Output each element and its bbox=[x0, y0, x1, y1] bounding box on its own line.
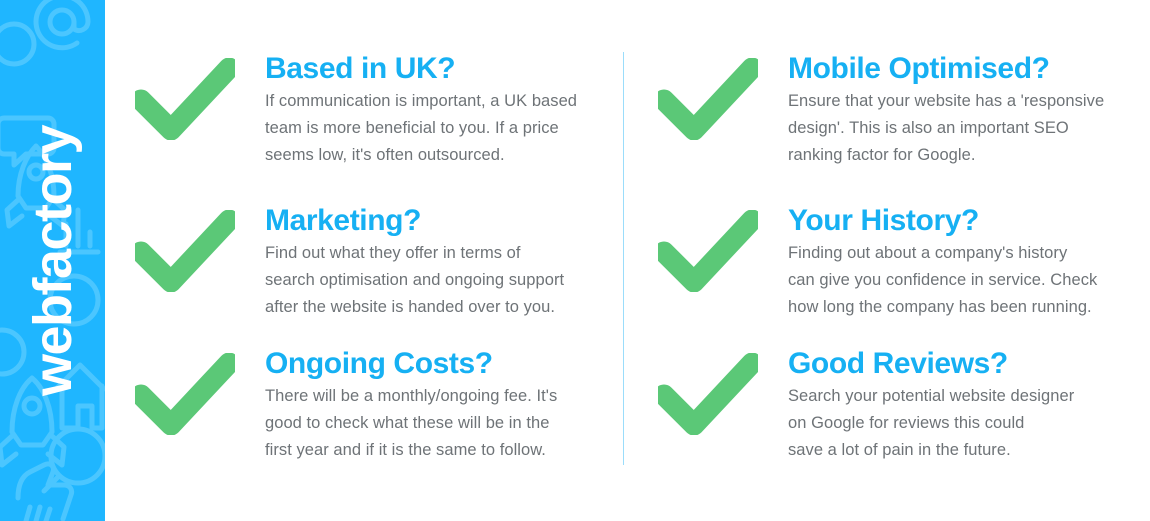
checkmark-wrapper bbox=[658, 347, 788, 435]
body-line: save a lot of pain in the future. bbox=[788, 437, 1133, 464]
body-line: design'. This is also an important SEO bbox=[788, 115, 1133, 142]
checkmark-wrapper bbox=[658, 204, 788, 292]
checklist-item-text: Marketing? Find out what they offer in t… bbox=[265, 204, 610, 321]
checkmark-wrapper bbox=[658, 52, 788, 140]
body-line: Ensure that your website has a 'responsi… bbox=[788, 88, 1133, 115]
checklist-item-body: Find out what they offer in terms of sea… bbox=[265, 240, 610, 321]
body-line: team is more beneficial to you. If a pri… bbox=[265, 115, 610, 142]
green-checkmark-icon bbox=[658, 210, 758, 292]
checklist-item-text: Ongoing Costs? There will be a monthly/o… bbox=[265, 347, 610, 464]
checklist-item-body: Search your potential website designer o… bbox=[788, 383, 1133, 464]
checkmark-wrapper bbox=[135, 347, 265, 435]
checklist-item-body: If communication is important, a UK base… bbox=[265, 88, 610, 169]
body-line: Finding out about a company's history bbox=[788, 240, 1133, 267]
body-line: search optimisation and ongoing support bbox=[265, 267, 610, 294]
circle-icon bbox=[0, 330, 24, 374]
checklist-item: Your History? Finding out about a compan… bbox=[658, 204, 1133, 321]
checklist-item: Marketing? Find out what they offer in t… bbox=[135, 204, 610, 321]
checklist-item: Good Reviews? Search your potential webs… bbox=[658, 347, 1133, 464]
body-line: Search your potential website designer bbox=[788, 383, 1133, 410]
checklist-item-title: Your History? bbox=[788, 204, 1133, 238]
green-checkmark-icon bbox=[135, 58, 235, 140]
checklist-item-title: Mobile Optimised? bbox=[788, 52, 1133, 86]
body-line: can give you confidence in service. Chec… bbox=[788, 267, 1133, 294]
checklist-item-title: Ongoing Costs? bbox=[265, 347, 610, 381]
column-divider bbox=[623, 52, 624, 465]
checklist-item: Ongoing Costs? There will be a monthly/o… bbox=[135, 347, 610, 464]
checklist-item: Mobile Optimised? Ensure that your websi… bbox=[658, 52, 1133, 169]
body-line: first year and if it is the same to foll… bbox=[265, 437, 610, 464]
checklist-item-text: Mobile Optimised? Ensure that your websi… bbox=[788, 52, 1133, 169]
checklist-item-text: Good Reviews? Search your potential webs… bbox=[788, 347, 1133, 464]
checklist-item-body: There will be a monthly/ongoing fee. It'… bbox=[265, 383, 610, 464]
checklist-item-body: Ensure that your website has a 'responsi… bbox=[788, 88, 1133, 169]
green-checkmark-icon bbox=[658, 58, 758, 140]
checklist-item-body: Finding out about a company's history ca… bbox=[788, 240, 1133, 321]
body-line: on Google for reviews this could bbox=[788, 410, 1133, 437]
checklist-item-text: Based in UK? If communication is importa… bbox=[265, 52, 610, 169]
body-line: Find out what they offer in terms of bbox=[265, 240, 610, 267]
green-checkmark-icon bbox=[135, 210, 235, 292]
checklist-item-title: Marketing? bbox=[265, 204, 610, 238]
body-line: after the website is handed over to you. bbox=[265, 294, 610, 321]
body-line: There will be a monthly/ongoing fee. It'… bbox=[265, 383, 610, 410]
body-line: good to check what these will be in the bbox=[265, 410, 610, 437]
brand-sidebar: webfactory bbox=[0, 0, 105, 521]
checklist-content: Based in UK? If communication is importa… bbox=[105, 0, 1150, 521]
checkmark-wrapper bbox=[135, 204, 265, 292]
body-line: how long the company has been running. bbox=[788, 294, 1133, 321]
green-checkmark-icon bbox=[135, 353, 235, 435]
checklist-item-text: Your History? Finding out about a compan… bbox=[788, 204, 1133, 321]
checklist-item-title: Good Reviews? bbox=[788, 347, 1133, 381]
checkmark-wrapper bbox=[135, 52, 265, 140]
body-line: seems low, it's often outsourced. bbox=[265, 142, 610, 169]
green-checkmark-icon bbox=[658, 353, 758, 435]
body-line: ranking factor for Google. bbox=[788, 142, 1133, 169]
at-sign-icon bbox=[36, 0, 88, 48]
checklist-item-title: Based in UK? bbox=[265, 52, 610, 86]
body-line: If communication is important, a UK base… bbox=[265, 88, 610, 115]
circle-icon bbox=[0, 24, 34, 64]
checklist-item: Based in UK? If communication is importa… bbox=[135, 52, 610, 169]
infographic-page: webfactory Based in UK? If communication… bbox=[0, 0, 1150, 521]
brand-logo-text: webfactory bbox=[26, 125, 80, 395]
